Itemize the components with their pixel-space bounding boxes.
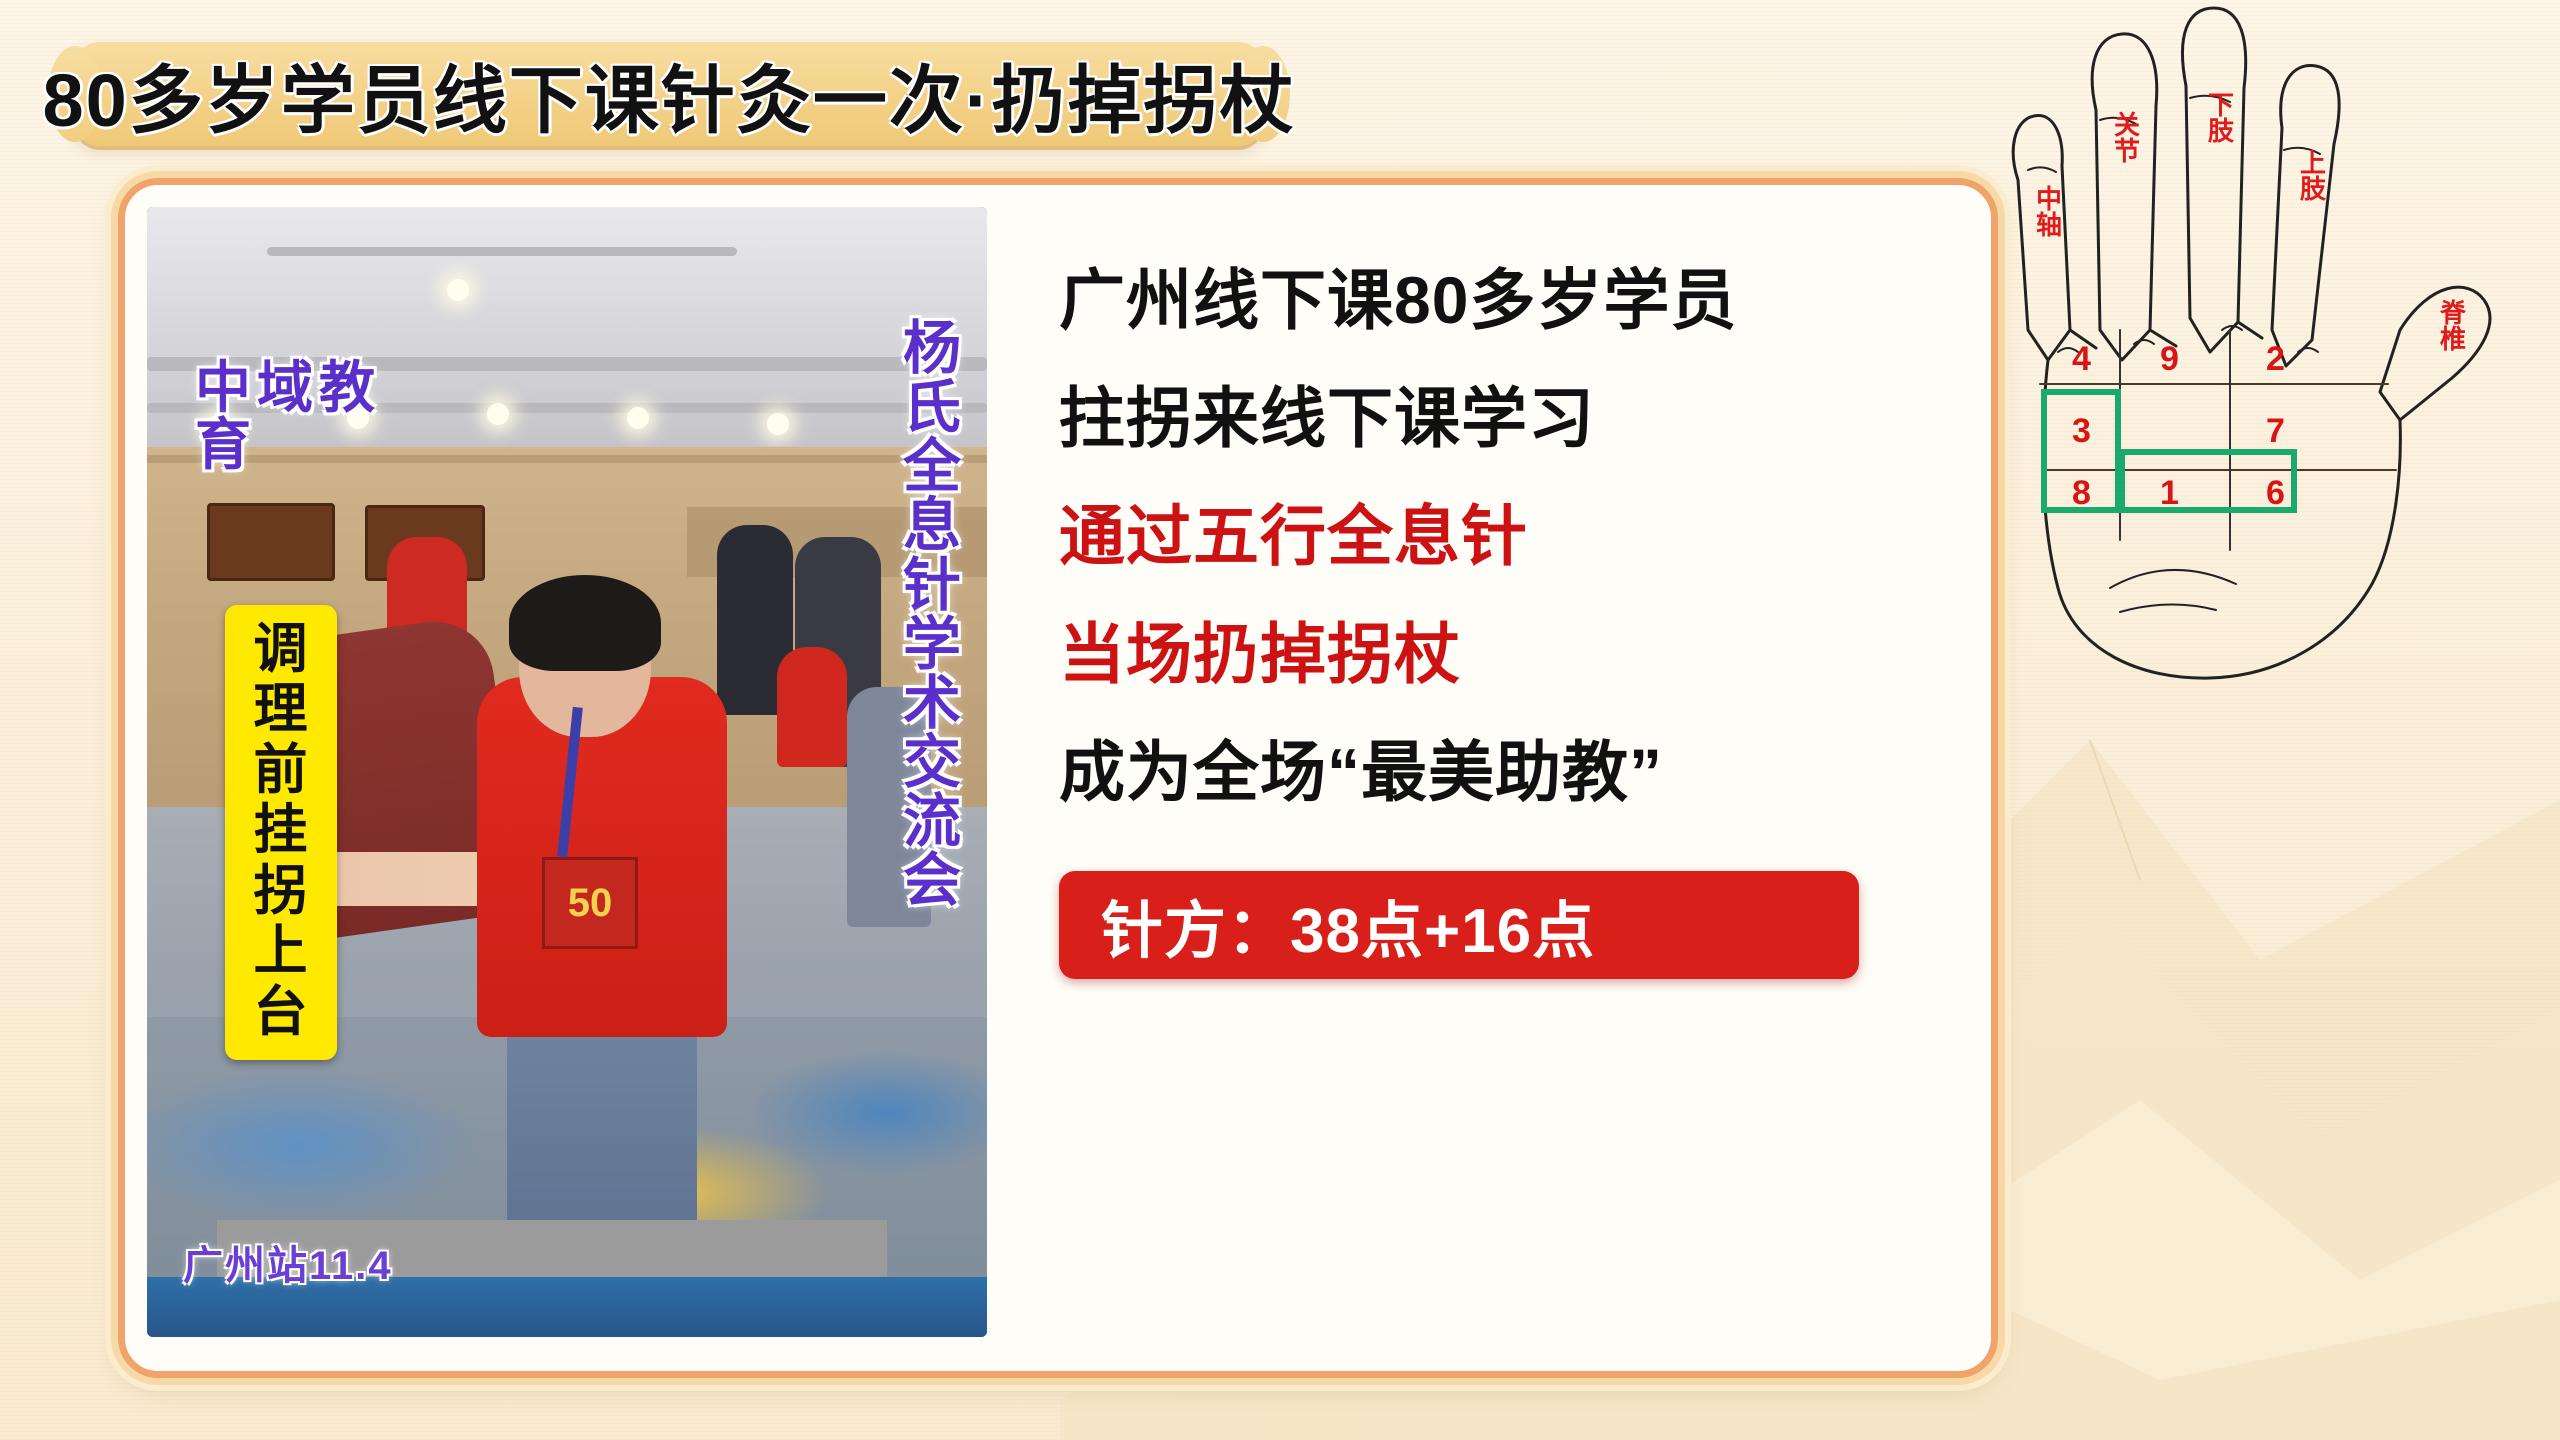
photo-watermark-event: 杨氏全息针学术交流会 (891, 319, 973, 911)
photo-background-person (777, 647, 847, 767)
photo-yellow-caption-label: 调理前挂拐上台 (225, 605, 337, 1060)
photo-ceiling-light (487, 403, 509, 425)
photo-subject-hair (509, 575, 661, 671)
prescription-badge-text: 针方：38点+16点 (1101, 880, 1595, 970)
content-line-4: 当场扔掉拐杖 (1059, 621, 1939, 687)
photo-badge-number: 50 (545, 860, 635, 946)
content-line-1: 广州线下课80多岁学员 (1059, 267, 1939, 333)
photo-subject-badge: 50 (542, 857, 638, 949)
content-line-2: 拄拐来线下课学习 (1059, 385, 1939, 451)
photo-watermark-brand: 中域教育 (195, 359, 385, 473)
photo-ceiling-light (767, 413, 789, 435)
photo-ceiling-light (627, 407, 649, 429)
content-line-5: 成为全场“最美助教” (1059, 739, 1939, 805)
event-photo: 50 中域教育 调理前挂拐上台 杨氏全息针学术交流会 广州站11.4 (147, 207, 987, 1337)
main-content-card: 50 中域教育 调理前挂拐上台 杨氏全息针学术交流会 广州站11.4 广州线下课… (118, 178, 1998, 1378)
content-line-3: 通过五行全息针 (1059, 503, 1939, 569)
photo-ceiling-light (447, 279, 469, 301)
prescription-badge: 针方：38点+16点 (1059, 871, 1859, 979)
photo-watermark-location-date: 广州站11.4 (183, 1233, 393, 1291)
content-text-column: 广州线下课80多岁学员 拄拐来线下课学习 通过五行全息针 当场扔掉拐杖 成为全场… (987, 207, 1969, 1349)
card-inner-layout: 50 中域教育 调理前挂拐上台 杨氏全息针学术交流会 广州站11.4 广州线下课… (125, 185, 1991, 1371)
photo-stage-sign (207, 503, 335, 581)
photo-ceiling-beam (267, 247, 737, 256)
page-title: 80多岁学员线下课针灸一次·扔掉拐杖 (43, 41, 1296, 148)
title-banner: 80多岁学员线下课针灸一次·扔掉拐杖 (74, 42, 1264, 146)
